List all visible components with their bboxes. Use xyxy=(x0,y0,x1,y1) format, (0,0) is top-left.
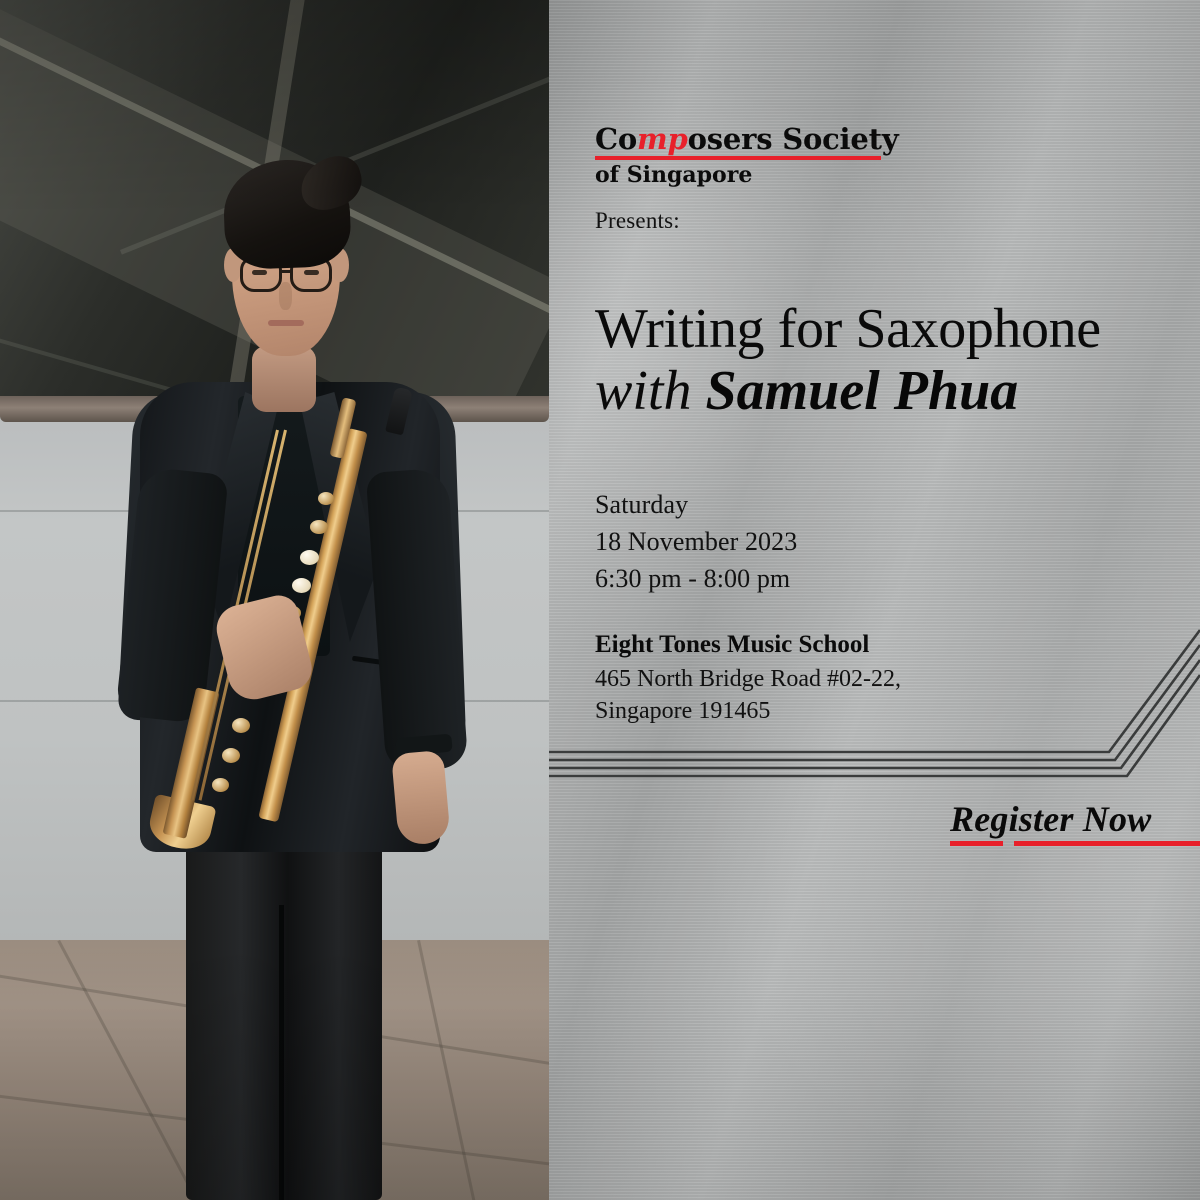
logo-line-2: of Singapore xyxy=(595,163,898,187)
speaker-name: Samuel Phua xyxy=(705,360,1018,422)
logo-text-osers-society: osers Society xyxy=(688,122,899,156)
panel-content: Composers Society of Singapore Presents:… xyxy=(595,0,1200,1200)
event-poster: Composers Society of Singapore Presents:… xyxy=(0,0,1200,1200)
event-datetime: Saturday 18 November 2023 6:30 pm - 8:00… xyxy=(595,487,797,598)
saxophone-key xyxy=(300,550,319,565)
speaker-photo xyxy=(0,0,549,1200)
venue-address-line-2: Singapore 191465 xyxy=(595,695,901,728)
event-title-line-2: with Samuel Phua xyxy=(595,360,1175,423)
event-date: 18 November 2023 xyxy=(595,524,797,561)
register-now-underline-left xyxy=(950,841,1003,846)
saxophone-key xyxy=(232,718,250,733)
saxophone-key xyxy=(222,748,240,763)
saxophone-key xyxy=(292,578,311,593)
event-title: Writing for Saxophone with Samuel Phua xyxy=(595,300,1175,423)
saxophone-key xyxy=(212,778,229,792)
organisation-logo[interactable]: Composers Society of Singapore xyxy=(595,125,898,187)
venue-name: Eight Tones Music School xyxy=(595,628,901,663)
logo-text-co: Co xyxy=(595,122,637,156)
event-time: 6:30 pm - 8:00 pm xyxy=(595,561,797,598)
venue-address-line-1: 465 North Bridge Road #02-22, xyxy=(595,663,901,696)
event-day: Saturday xyxy=(595,487,797,524)
logo-underline xyxy=(595,156,881,160)
event-venue: Eight Tones Music School 465 North Bridg… xyxy=(595,628,901,728)
logo-line-1: Composers Society xyxy=(595,125,898,154)
event-title-with: with xyxy=(595,360,705,422)
event-title-line-1: Writing for Saxophone xyxy=(595,300,1175,358)
presents-label: Presents: xyxy=(595,208,680,234)
register-now-label: Register Now xyxy=(950,800,1200,840)
saxophone-mouthpiece xyxy=(385,387,413,436)
logo-text-mp-accent: mp xyxy=(637,122,688,156)
saxophone-key xyxy=(310,520,328,534)
register-now-underline-right xyxy=(1014,841,1200,846)
info-panel: Composers Society of Singapore Presents:… xyxy=(549,0,1200,1200)
register-now-button[interactable]: Register Now xyxy=(950,800,1200,848)
register-now-underline xyxy=(950,841,1200,848)
saxophone-key xyxy=(318,492,334,505)
